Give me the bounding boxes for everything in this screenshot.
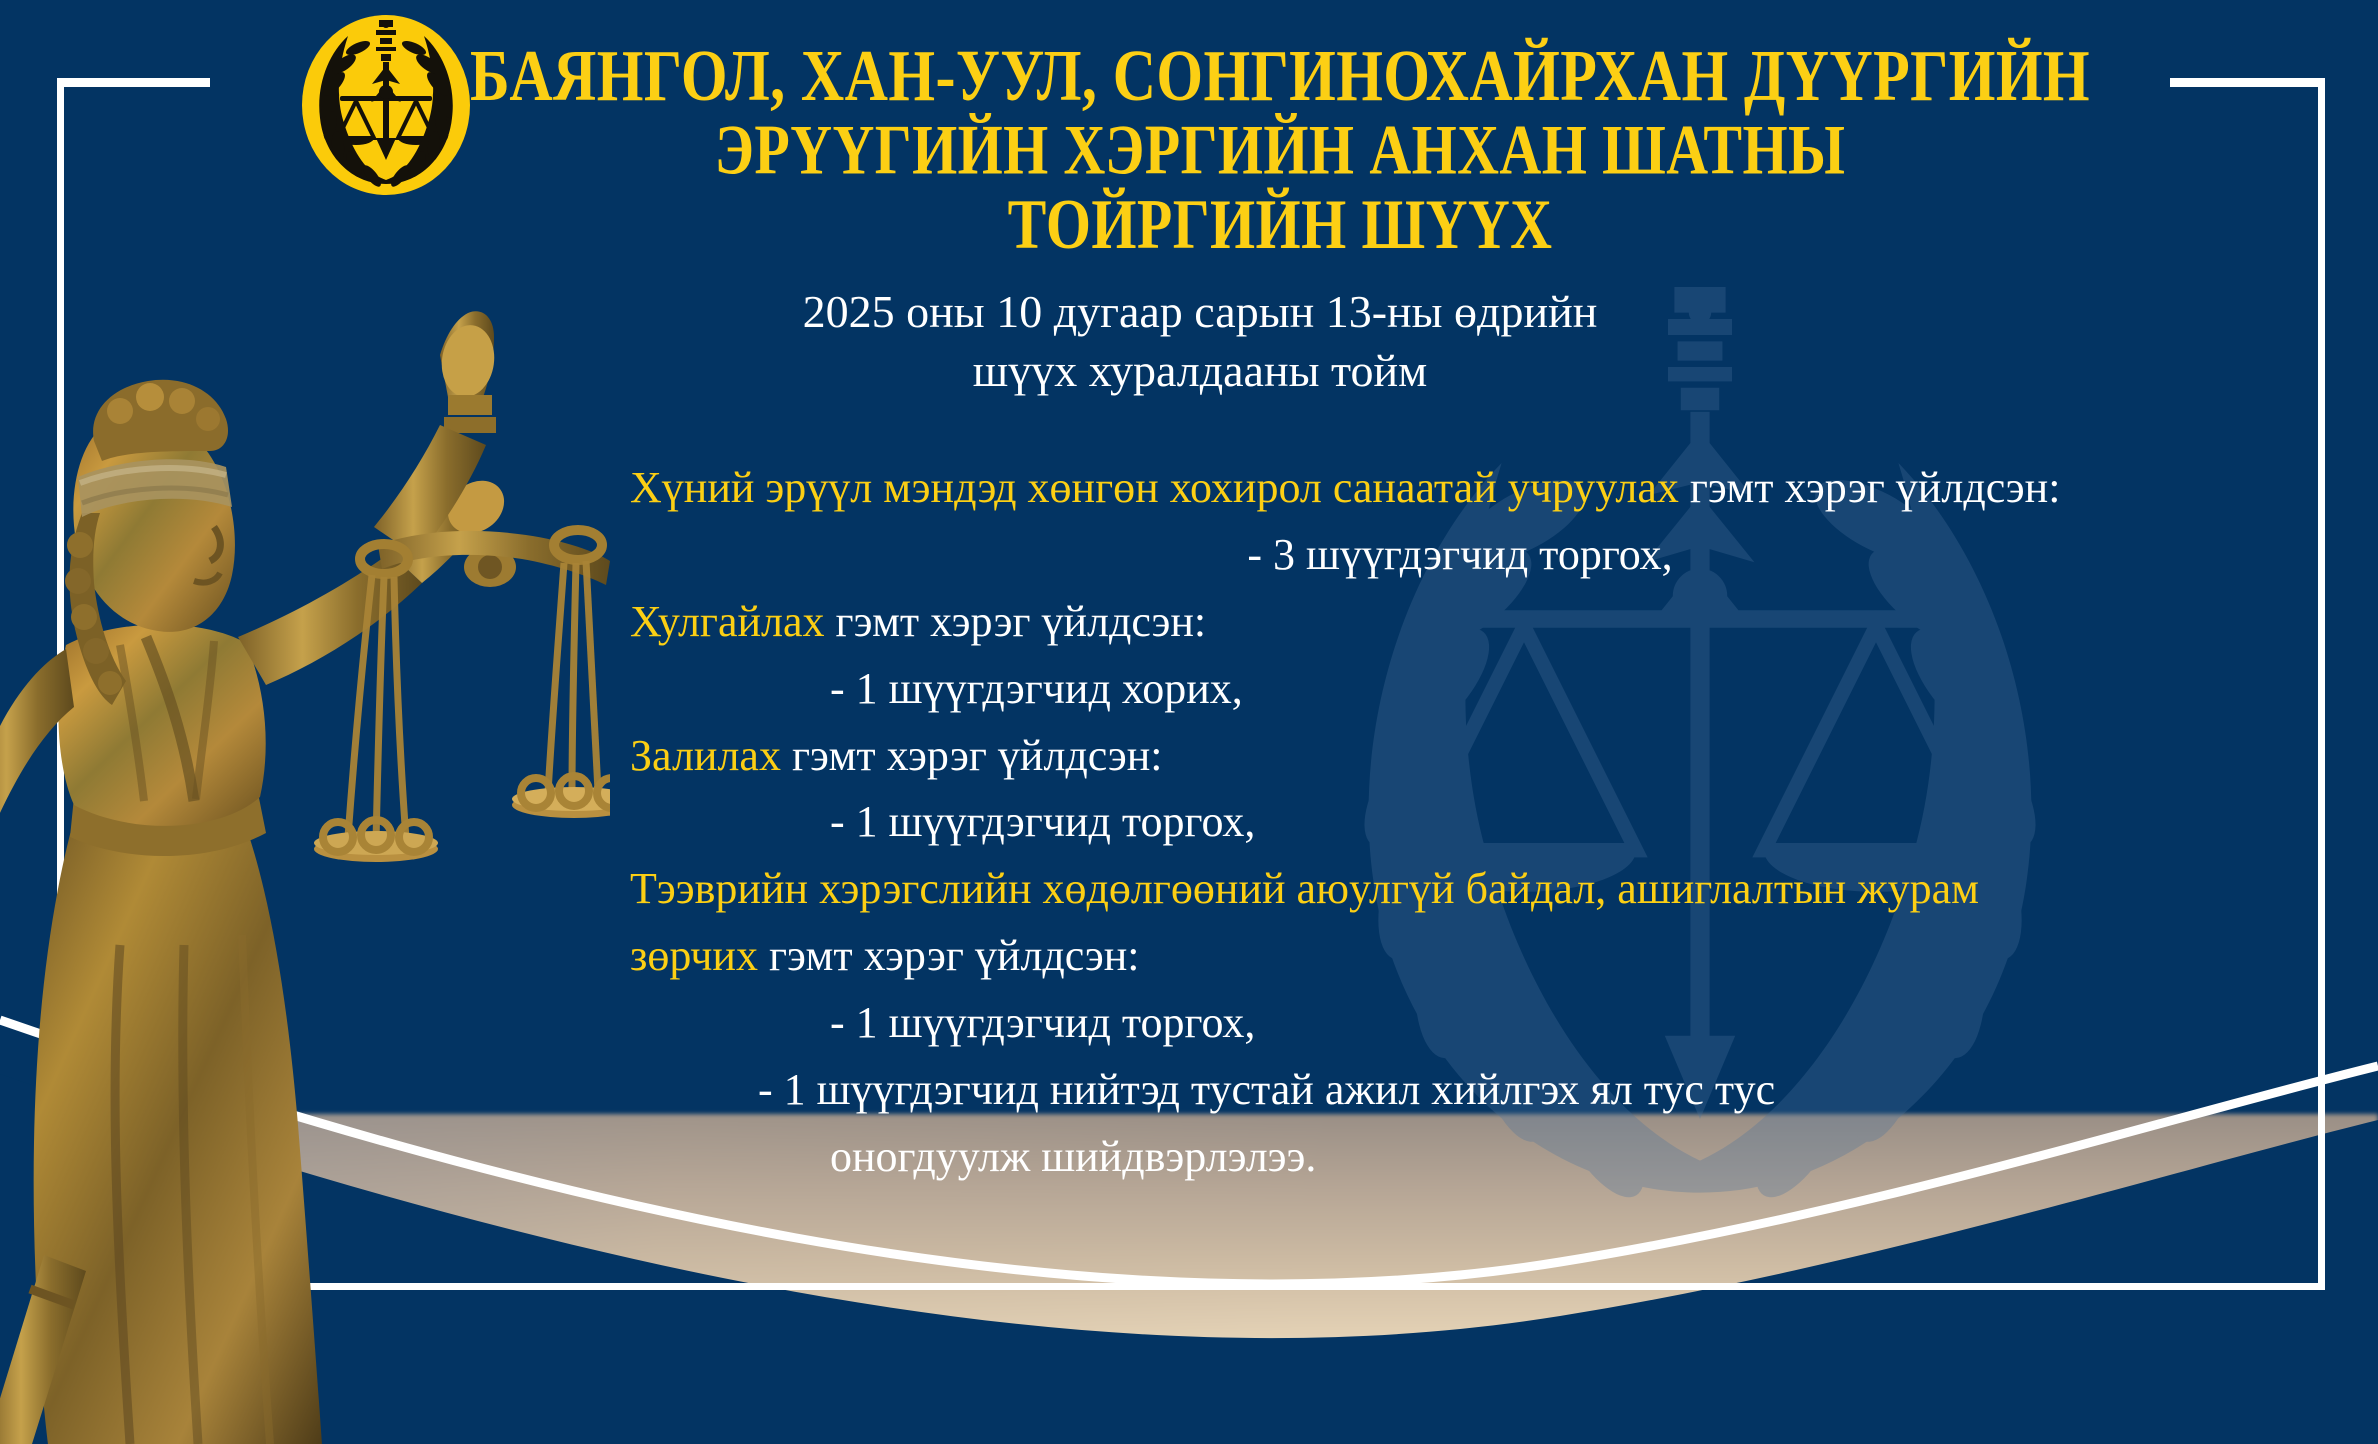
- case-summary-body: Хүний эрүүл мэндэд хөнгөн хохирол санаат…: [630, 455, 2290, 1191]
- case-line-10: - 1 шүүгдэгчид нийтэд тустай ажил хийлгэ…: [630, 1057, 2290, 1124]
- case-line-8-highlight: зөрчих: [630, 931, 758, 980]
- case-line-6: - 1 шүүгдэгчид торгох,: [630, 789, 2290, 856]
- case-line-5-highlight: Залилах: [630, 731, 781, 780]
- case-line-11-plain: оногдуулж шийдвэрлэлээ.: [830, 1132, 1316, 1181]
- title-line-3: ТОЙРГИЙН ШҮҮХ: [470, 188, 2090, 262]
- case-line-5: Залилах гэмт хэрэг үйлдсэн:: [630, 723, 2290, 790]
- case-line-6-plain: - 1 шүүгдэгчид торгох,: [830, 797, 1255, 846]
- case-line-7: Тээврийн хэрэгслийн хөдөлгөөний аюулгүй …: [630, 856, 2378, 923]
- case-line-10-plain: - 1 шүүгдэгчид нийтэд тустай ажил хийлгэ…: [758, 1065, 1775, 1114]
- case-line-5-plain: гэмт хэрэг үйлдсэн:: [781, 731, 1163, 780]
- title-line-2: ЭРҮҮГИЙН ХЭРГИЙН АНХАН ШАТНЫ: [470, 114, 2090, 188]
- case-line-4: - 1 шүүгдэгчид хорих,: [630, 656, 2290, 723]
- case-line-9-plain: - 1 шүүгдэгчид торгох,: [830, 998, 1255, 1047]
- case-line-2-plain: - 3 шүүгдэгчид торгох,: [1247, 530, 1672, 579]
- court-announcement-poster: БАЯНГОЛ, ХАН-УУЛ, СОНГИНОХАЙРХАН ДҮҮРГИЙ…: [0, 0, 2378, 1444]
- subtitle-line-2: шүүх хуралдааны тойм: [500, 342, 1900, 401]
- case-line-2: - 3 шүүгдэгчид торгох,: [630, 522, 2290, 589]
- case-line-11: оногдуулж шийдвэрлэлээ.: [630, 1124, 2290, 1191]
- case-line-1-highlight: Хүний эрүүл мэндэд хөнгөн хохирол санаат…: [630, 463, 1679, 512]
- court-emblem-badge: [298, 12, 474, 198]
- case-line-8-plain: гэмт хэрэг үйлдсэн:: [758, 931, 1140, 980]
- case-line-3-highlight: Хулгайлах: [630, 597, 825, 646]
- case-line-3-plain: гэмт хэрэг үйлдсэн:: [825, 597, 1207, 646]
- page-title: БАЯНГОЛ, ХАН-УУЛ, СОНГИНОХАЙРХАН ДҮҮРГИЙ…: [470, 38, 2090, 261]
- case-line-3: Хулгайлах гэмт хэрэг үйлдсэн:: [630, 589, 2290, 656]
- case-line-7-highlight: Тээврийн хэрэгслийн хөдөлгөөний аюулгүй …: [630, 864, 1979, 913]
- case-line-9: - 1 шүүгдэгчид торгох,: [630, 990, 2290, 1057]
- subtitle-line-1: 2025 оны 10 дугаар сарын 13-ны өдрийн: [500, 283, 1900, 342]
- case-line-8: зөрчих гэмт хэрэг үйлдсэн:: [630, 923, 2290, 990]
- case-line-1-plain: гэмт хэрэг үйлдсэн:: [1679, 463, 2061, 512]
- title-line-1: БАЯНГОЛ, ХАН-УУЛ, СОНГИНОХАЙРХАН ДҮҮРГИЙ…: [470, 38, 2090, 114]
- case-line-4-plain: - 1 шүүгдэгчид хорих,: [830, 664, 1243, 713]
- case-line-1: Хүний эрүүл мэндэд хөнгөн хохирол санаат…: [630, 455, 2378, 522]
- subtitle-date: 2025 оны 10 дугаар сарын 13-ны өдрийн шү…: [500, 283, 1900, 401]
